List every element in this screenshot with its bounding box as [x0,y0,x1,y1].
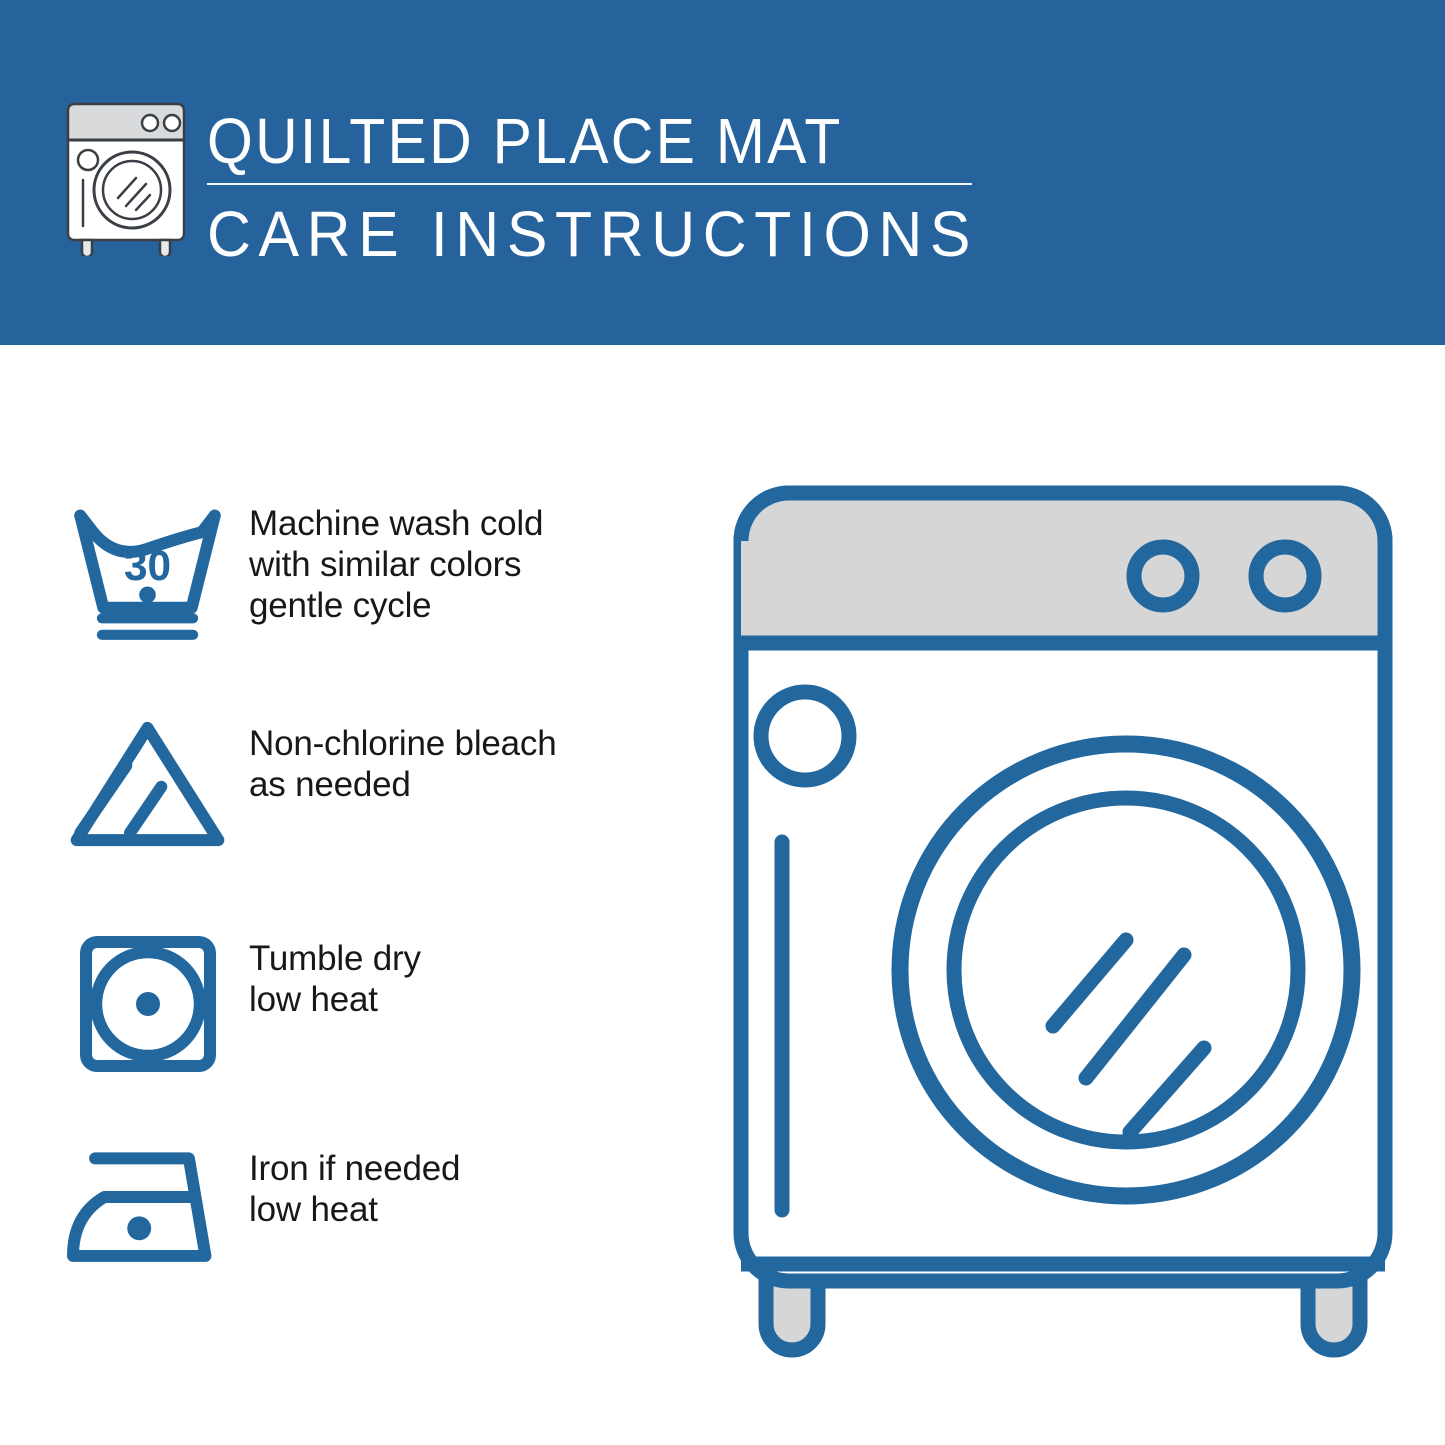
list-item: Tumble dry low heat [60,930,680,1078]
list-item: Non-chlorine bleach as needed [60,715,680,853]
list-item-text: Non-chlorine bleach as needed [235,715,557,805]
instruction-line: Iron if needed [249,1148,460,1189]
instruction-line: Machine wash cold [249,503,543,544]
instruction-line: as needed [249,764,557,805]
page-subtitle: CARE INSTRUCTIONS [207,195,958,273]
tumble-dry-low-icon [60,930,235,1078]
list-item-text: Tumble dry low heat [235,930,421,1020]
non-chlorine-bleach-triangle-icon [60,715,235,853]
instructions-list: 30 Machine wash cold with similar colors… [0,345,700,1445]
instruction-line: low heat [249,1189,460,1230]
front-load-washing-machine-illustration [718,470,1408,1370]
instruction-line: with similar colors [249,544,543,585]
wash-tub-30-gentle-icon: 30 [60,495,235,643]
drum-inner-ring [954,798,1298,1142]
instruction-line: Non-chlorine bleach [249,723,557,764]
list-item: 30 Machine wash cold with similar colors… [60,495,680,643]
detergent-port [761,692,849,780]
wash-temperature-label: 30 [124,542,171,589]
page-header: QUILTED PLACE MAT CARE INSTRUCTIONS [0,0,1445,345]
list-item: Iron if needed low heat [60,1140,680,1278]
control-knob [1134,547,1192,605]
title-divider [207,183,972,185]
iron-low-heat-icon [60,1140,235,1278]
washing-machine-icon [62,98,190,256]
instruction-line: gentle cycle [249,585,543,626]
header-title-block: QUILTED PLACE MAT CARE INSTRUCTIONS [207,103,997,273]
care-instructions-page: QUILTED PLACE MAT CARE INSTRUCTIONS 30 [0,0,1445,1445]
list-item-text: Machine wash cold with similar colors ge… [235,495,543,626]
control-knob [1256,547,1314,605]
page-title: QUILTED PLACE MAT [207,103,934,179]
instruction-line: Tumble dry [249,938,421,979]
list-item-text: Iron if needed low heat [235,1140,460,1230]
instruction-line: low heat [249,979,421,1020]
